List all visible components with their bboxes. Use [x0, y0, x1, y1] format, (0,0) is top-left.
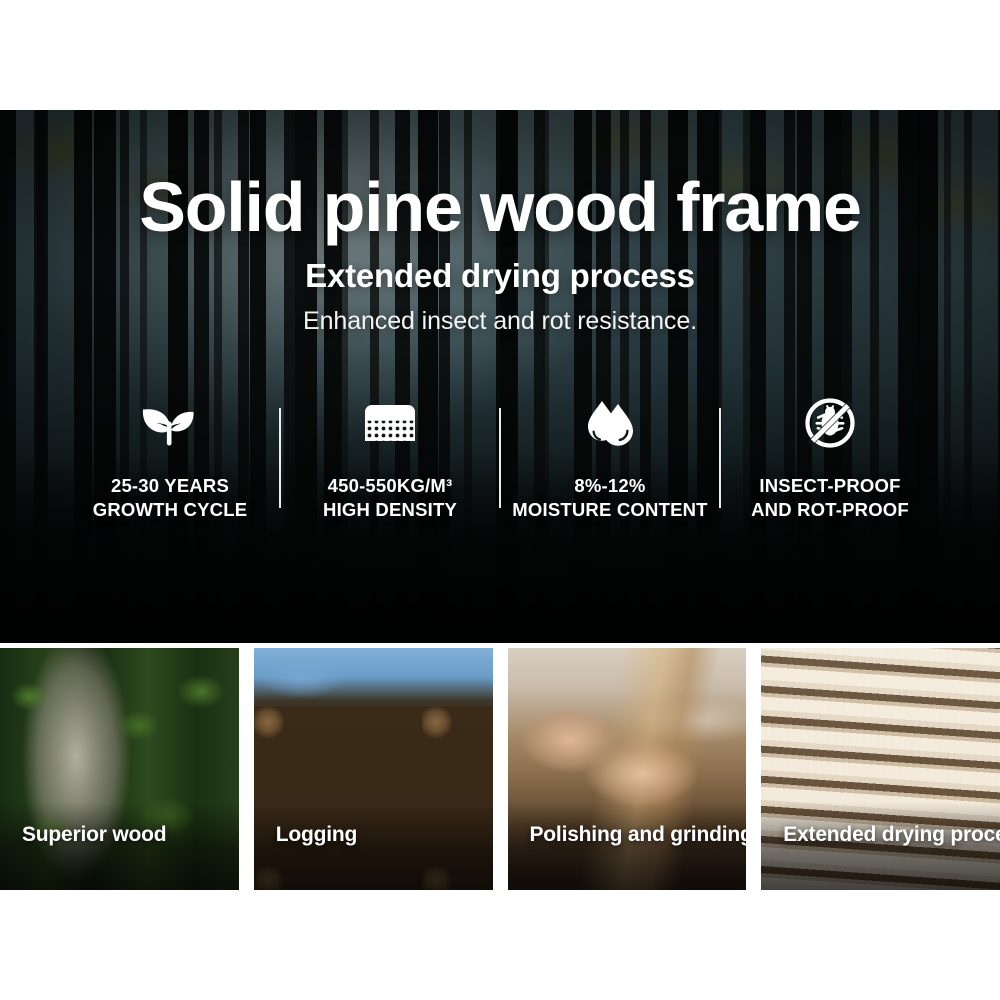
- feature-insect-proof: INSECT-PROOF AND ROT-PROOF: [721, 395, 939, 523]
- feature-label-line1: 25-30 YEARS: [93, 474, 248, 498]
- feature-label-line1: 8%-12%: [512, 474, 707, 498]
- gallery-caption: Extended drying process: [761, 802, 1000, 890]
- feature-label: 450-550KG/M³ HIGH DENSITY: [323, 474, 457, 523]
- gallery-panel-superior-wood[interactable]: Superior wood: [0, 648, 239, 890]
- gallery-panel-drying[interactable]: Extended drying process: [761, 648, 1000, 890]
- gallery-caption: Logging: [254, 802, 493, 890]
- gallery-caption: Superior wood: [0, 802, 239, 890]
- hero-subtitle: Extended drying process: [0, 257, 1000, 295]
- feature-label: 8%-12% MOISTURE CONTENT: [512, 474, 707, 523]
- gallery-panel-polishing[interactable]: Polishing and grinding: [508, 648, 747, 890]
- feature-label-line2: GROWTH CYCLE: [93, 498, 248, 522]
- gallery-caption-text: Polishing and grinding: [530, 823, 747, 847]
- process-gallery: Superior wood Logging Polishing and grin…: [0, 648, 1000, 890]
- leaf-sprout-icon: [139, 395, 201, 451]
- feature-row: 25-30 YEARS GROWTH CYCLE: [0, 395, 1000, 540]
- insect-proof-icon: [801, 395, 859, 451]
- gallery-panel-logging[interactable]: Logging: [254, 648, 493, 890]
- feature-label: INSECT-PROOF AND ROT-PROOF: [751, 474, 909, 523]
- feature-label-line1: INSECT-PROOF: [751, 474, 909, 498]
- water-droplets-icon: [579, 395, 641, 451]
- feature-label-line2: AND ROT-PROOF: [751, 498, 909, 522]
- infographic-page: Solid pine wood frame Extended drying pr…: [0, 0, 1000, 1000]
- page-title: Solid pine wood frame: [0, 172, 1000, 243]
- hero-banner: Solid pine wood frame Extended drying pr…: [0, 110, 1000, 643]
- feature-label-line1: 450-550KG/M³: [323, 474, 457, 498]
- feature-label: 25-30 YEARS GROWTH CYCLE: [93, 474, 248, 523]
- gallery-caption-text: Superior wood: [22, 823, 166, 847]
- hero-description: Enhanced insect and rot resistance.: [0, 307, 1000, 336]
- feature-high-density: 450-550KG/M³ HIGH DENSITY: [281, 395, 499, 523]
- feature-moisture-content: 8%-12% MOISTURE CONTENT: [501, 395, 719, 523]
- gallery-caption: Polishing and grinding: [508, 802, 747, 890]
- mattress-density-icon: [359, 395, 421, 451]
- feature-label-line2: HIGH DENSITY: [323, 498, 457, 522]
- feature-growth-cycle: 25-30 YEARS GROWTH CYCLE: [61, 395, 279, 523]
- gallery-caption-text: Extended drying process: [783, 823, 1000, 847]
- feature-label-line2: MOISTURE CONTENT: [512, 498, 707, 522]
- hero-copy-block: Solid pine wood frame Extended drying pr…: [0, 110, 1000, 336]
- gallery-caption-text: Logging: [276, 823, 357, 847]
